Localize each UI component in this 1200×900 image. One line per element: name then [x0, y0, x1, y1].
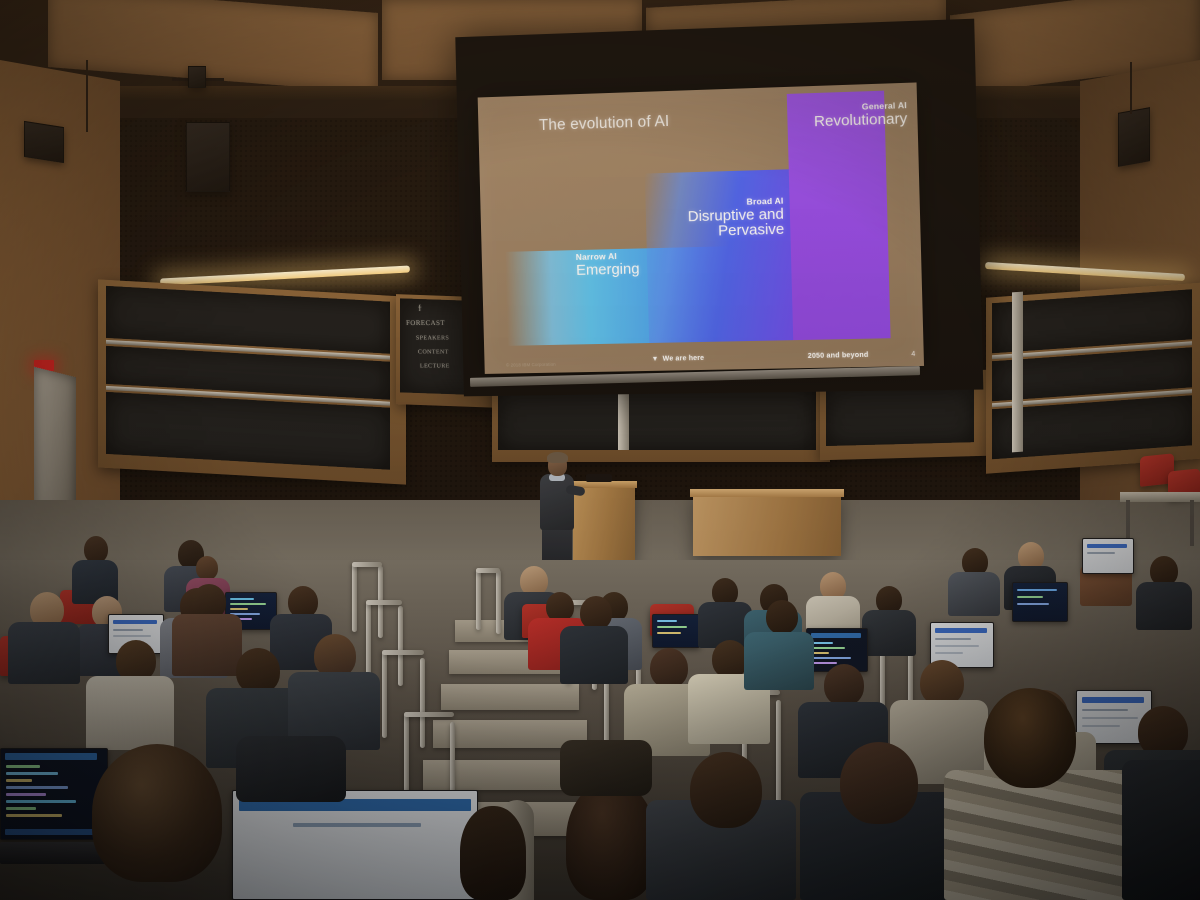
screen-line [935, 638, 971, 640]
screen-line [1087, 552, 1115, 554]
foreground-head [566, 780, 656, 900]
screen-line [5, 753, 97, 760]
handrail-post [366, 600, 371, 678]
screen-line [113, 620, 157, 624]
handrail-post [496, 570, 501, 634]
screen-line [230, 598, 254, 600]
label-narrow-ai: Narrow AI Emerging [576, 252, 640, 279]
audience-torso [744, 632, 814, 690]
screen-line [230, 608, 248, 610]
side-table [1120, 492, 1200, 502]
here-marker-label: We are here [663, 355, 705, 363]
screen-line [811, 633, 861, 638]
podium-device [586, 474, 612, 482]
laptop[interactable] [652, 614, 700, 648]
screen-line [6, 800, 76, 803]
foreground-torso [1122, 760, 1200, 900]
laptop-screen [652, 614, 700, 648]
foreground-head [840, 742, 918, 824]
lecture-podium [573, 485, 635, 560]
blackboard-divider [1012, 292, 1023, 453]
presenter-table [693, 494, 841, 556]
step [441, 684, 579, 710]
slide-copyright: © 2018 IBM Corporation [506, 362, 556, 368]
audience-torso [1136, 582, 1192, 630]
audience-torso [8, 622, 80, 684]
chalk-tick: ϯ [418, 303, 422, 313]
screen-line [811, 647, 845, 649]
screen-line [811, 662, 837, 664]
laptop-screen [1082, 538, 1134, 574]
handrail-post [776, 700, 781, 812]
foreground-head [92, 744, 222, 882]
screen-line [6, 814, 62, 817]
handrail-bar [476, 568, 500, 573]
screen-line [6, 786, 68, 789]
screen-line [1082, 725, 1120, 727]
speaker-bracket [188, 66, 206, 88]
screen-line [113, 635, 151, 637]
chalk-line-4: LECTURE [420, 364, 450, 370]
screen-line [1087, 544, 1127, 548]
label-narrow-ai-headline: Emerging [576, 262, 640, 279]
laptop-screen [1012, 582, 1068, 622]
side-table-leg [1190, 500, 1194, 546]
slide-title: The evolution of AI [539, 113, 670, 135]
backpack [560, 740, 652, 796]
projection-screen: The evolution of AI Narrow AI Emerging B… [478, 82, 924, 373]
laptop[interactable] [1012, 582, 1068, 622]
screen-line [230, 603, 266, 605]
laptop[interactable] [232, 790, 478, 900]
screen-line [6, 779, 32, 782]
chalk-line-2: SPEAKERS [416, 335, 449, 341]
presenter-hair [547, 452, 568, 463]
audience-head [84, 536, 108, 563]
screen-line [1017, 589, 1057, 591]
handrail-post [382, 650, 387, 738]
foreground-torso-striped [944, 770, 1134, 900]
laptop-screen [232, 790, 478, 900]
audience-head [824, 664, 864, 706]
screen-line [5, 829, 103, 835]
screen-line [811, 657, 851, 659]
blackboard-panel [106, 392, 390, 470]
screen-line [6, 772, 58, 775]
audience-torso [86, 676, 174, 750]
handrail-bar [352, 562, 382, 567]
label-broad-ai: Broad AI Disruptive and Pervasive [687, 196, 784, 240]
handrail-bar [366, 600, 402, 605]
screen-line [1082, 717, 1138, 719]
screen-line [1082, 697, 1144, 703]
screen-line [6, 807, 36, 810]
chalk-line-1: FORECAST [406, 319, 445, 327]
audience-torso [948, 572, 1000, 616]
audience-head [712, 640, 748, 678]
speaker-mount-rod [1130, 62, 1132, 114]
audience-head [766, 600, 798, 634]
speaker-mount-rod [86, 60, 88, 132]
ceiling-speaker-left [24, 121, 64, 163]
presenter-table-top [690, 489, 844, 497]
label-general-ai-headline: Revolutionary [814, 111, 908, 130]
ceiling-speaker-center [186, 122, 230, 192]
slide: The evolution of AI Narrow AI Emerging B… [478, 82, 924, 373]
screen-line [1017, 596, 1043, 598]
screen-line [811, 642, 833, 644]
screen-line [935, 652, 963, 654]
screen-line [293, 823, 421, 827]
blackboard-frame-left [98, 279, 406, 484]
audience-torso [560, 626, 628, 684]
label-general-ai: General AI Revolutionary [814, 101, 908, 130]
slide-future-label: 2050 and beyond [808, 352, 869, 360]
screen-line [6, 793, 46, 796]
audience-torso [862, 610, 916, 656]
screen-line [1082, 709, 1128, 711]
screen-line [657, 626, 687, 628]
backpack [236, 736, 346, 802]
audience-torso [172, 614, 242, 676]
screen-line [1017, 603, 1049, 605]
ceiling-speaker-right [1118, 107, 1150, 167]
foreground-head [984, 688, 1076, 788]
slide-here-marker: ▼We are here [652, 355, 705, 363]
presenter-torso [540, 474, 574, 530]
blackboard-divider [618, 386, 629, 450]
screen-line [935, 628, 987, 633]
foreground-head [690, 752, 762, 828]
audience-head [580, 596, 612, 630]
laptop[interactable] [1082, 538, 1134, 574]
slide-page-number: 4 [911, 351, 915, 358]
handrail-bar [382, 650, 424, 655]
handrail-bar [404, 712, 454, 717]
triangle-down-icon: ▼ [652, 356, 659, 363]
foreground-head [460, 806, 526, 900]
handrail-post [352, 562, 357, 632]
handrail-post [420, 658, 425, 748]
handrail-post [398, 606, 403, 686]
lecture-hall-photo: ϯ FORECAST SPEAKERS CONTENT LECTURE The … [0, 0, 1200, 900]
screen-line [113, 629, 143, 631]
handrail-post [476, 568, 481, 630]
audience-head [196, 556, 218, 580]
screen-line [935, 645, 979, 647]
blackboard-panel [498, 386, 816, 450]
chalk-line-3: CONTENT [418, 349, 449, 355]
screen-line [6, 765, 40, 768]
screen-line [657, 632, 681, 634]
screen-line [657, 620, 677, 622]
audience-head [650, 648, 688, 688]
